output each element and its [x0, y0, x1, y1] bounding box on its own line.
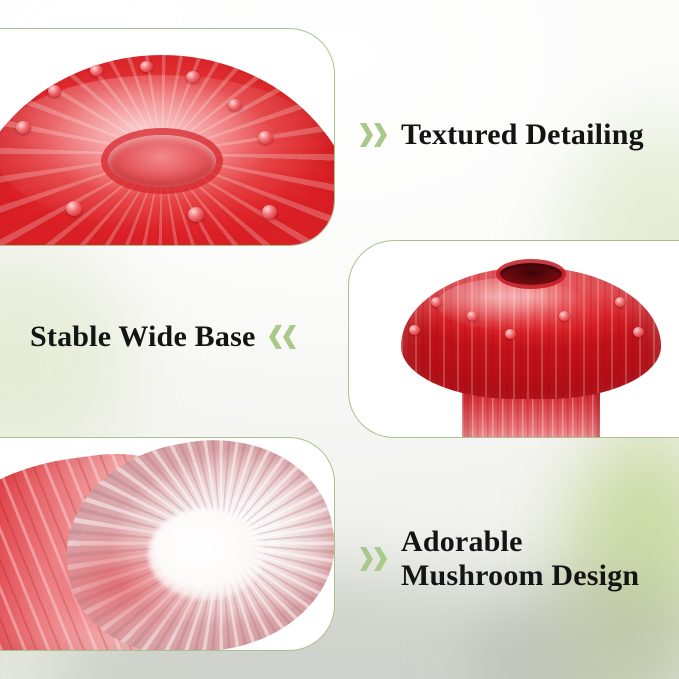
product-feature-infographic: Textured Detailing Stable Wide Base Ador…: [0, 0, 679, 679]
cap-stud-dot: [48, 85, 61, 97]
feature-photo-panel-stable-wide-base: [348, 240, 679, 438]
cap-stud-dot: [505, 329, 516, 339]
mushroom-base-underside-photo: [0, 438, 334, 650]
mushroom-side-view-photo: [349, 241, 679, 437]
mushroom-vase-side: [401, 249, 661, 437]
cap-highlight-sheen: [437, 278, 583, 331]
cap-stud-dot: [615, 297, 626, 307]
feature-label-text: Stable Wide Base: [30, 320, 255, 354]
cap-stud-dot: [16, 121, 31, 134]
cap-stud-dot: [140, 61, 153, 72]
vase-opening: [108, 135, 216, 187]
cap-stud-dot: [262, 205, 277, 219]
cap-stud-dot: [90, 65, 103, 76]
feature-label-text: Adorable Mushroom Design: [401, 525, 639, 592]
feature-label-adorable-mushroom-design: Adorable Mushroom Design: [360, 525, 639, 592]
cap-stud-dot: [467, 311, 478, 321]
cap-stud-dot: [633, 327, 644, 337]
double-chevron-right-icon: [360, 122, 387, 148]
feature-photo-panel-textured-detailing: [0, 28, 335, 246]
mushroom-cap-top-view-photo: [0, 29, 334, 245]
mushroom-cap: [401, 267, 661, 399]
feature-label-text: Textured Detailing: [401, 118, 644, 152]
double-chevron-right-icon: [360, 546, 387, 572]
cap-stud-dot: [258, 131, 273, 144]
base-frosted-center: [148, 508, 264, 600]
vase-opening: [500, 263, 562, 285]
double-chevron-left-icon: [269, 324, 296, 350]
feature-label-stable-wide-base: Stable Wide Base: [30, 320, 296, 354]
cap-stud-dot: [409, 325, 420, 335]
cap-stud-dot: [186, 71, 200, 83]
cap-stud-dot: [66, 201, 82, 216]
cap-stud-dot: [559, 311, 570, 321]
mushroom-cap-dome: [0, 55, 334, 245]
cap-stud-dot: [188, 207, 204, 222]
cap-stud-dot: [431, 297, 442, 307]
feature-label-textured-detailing: Textured Detailing: [360, 118, 644, 152]
feature-photo-panel-adorable-mushroom-design: [0, 437, 335, 651]
cap-stud-dot: [228, 99, 242, 111]
